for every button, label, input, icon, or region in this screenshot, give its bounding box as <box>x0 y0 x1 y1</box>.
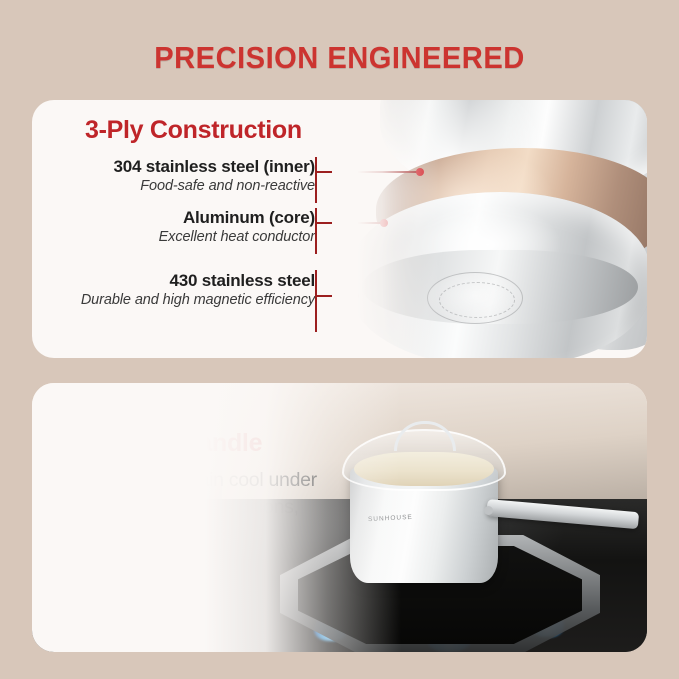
page-title: PRECISION ENGINEERED <box>20 40 658 76</box>
layer-tick-rail-1 <box>315 157 317 203</box>
product-brand-label: SUNHOUSE <box>368 514 413 523</box>
layer-leader-line-1 <box>317 171 419 173</box>
pan-cross-section-illustration <box>332 100 647 358</box>
layer-label-aluminum-core: Aluminum (core) Excellent heat conductor <box>45 207 315 246</box>
infographic-page: PRECISION ENGINEERED 3-Ply Construction … <box>0 0 679 679</box>
base-engraving-stamp <box>427 272 523 324</box>
layer-label-304-steel: 304 stainless steel (inner) Food-safe an… <box>45 156 315 195</box>
layer-leader-line-3 <box>317 295 354 297</box>
card-stay-cool-handle: SUNHOUSE Stay-Cool Handle Designed to re… <box>32 383 647 652</box>
layer-label-description: Food-safe and non-reactive <box>45 177 315 195</box>
layer-leader-line-2 <box>317 222 383 224</box>
layer-tick-rail-2 <box>315 208 317 254</box>
layer-tick-rail-3 <box>315 270 317 332</box>
ply-card-heading: 3-Ply Construction <box>85 116 302 145</box>
layer-label-title: 304 stainless steel (inner) <box>45 156 315 177</box>
handle-rivet <box>484 506 493 515</box>
handle-card-heading: Stay-Cool Handle <box>60 429 335 458</box>
handle-card-body: Designed to remain cool under high-tempe… <box>60 467 335 548</box>
layer-marker-dot-1 <box>416 168 424 176</box>
layer-label-title: Aluminum (core) <box>45 207 315 228</box>
card-3ply-construction: 3-Ply Construction 304 stainless steel (… <box>32 100 647 358</box>
layer-label-title: 430 stainless steel <box>45 270 315 291</box>
layer-label-description: Excellent heat conductor <box>45 228 315 246</box>
layer-marker-dot-3 <box>351 292 359 300</box>
layer-label-description: Durable and high magnetic efficiency <box>45 291 315 309</box>
handle-card-copy: Stay-Cool Handle Designed to remain cool… <box>60 429 335 548</box>
layer-label-430-steel: 430 stainless steel Durable and high mag… <box>45 270 315 309</box>
layer-marker-dot-2 <box>380 219 388 227</box>
